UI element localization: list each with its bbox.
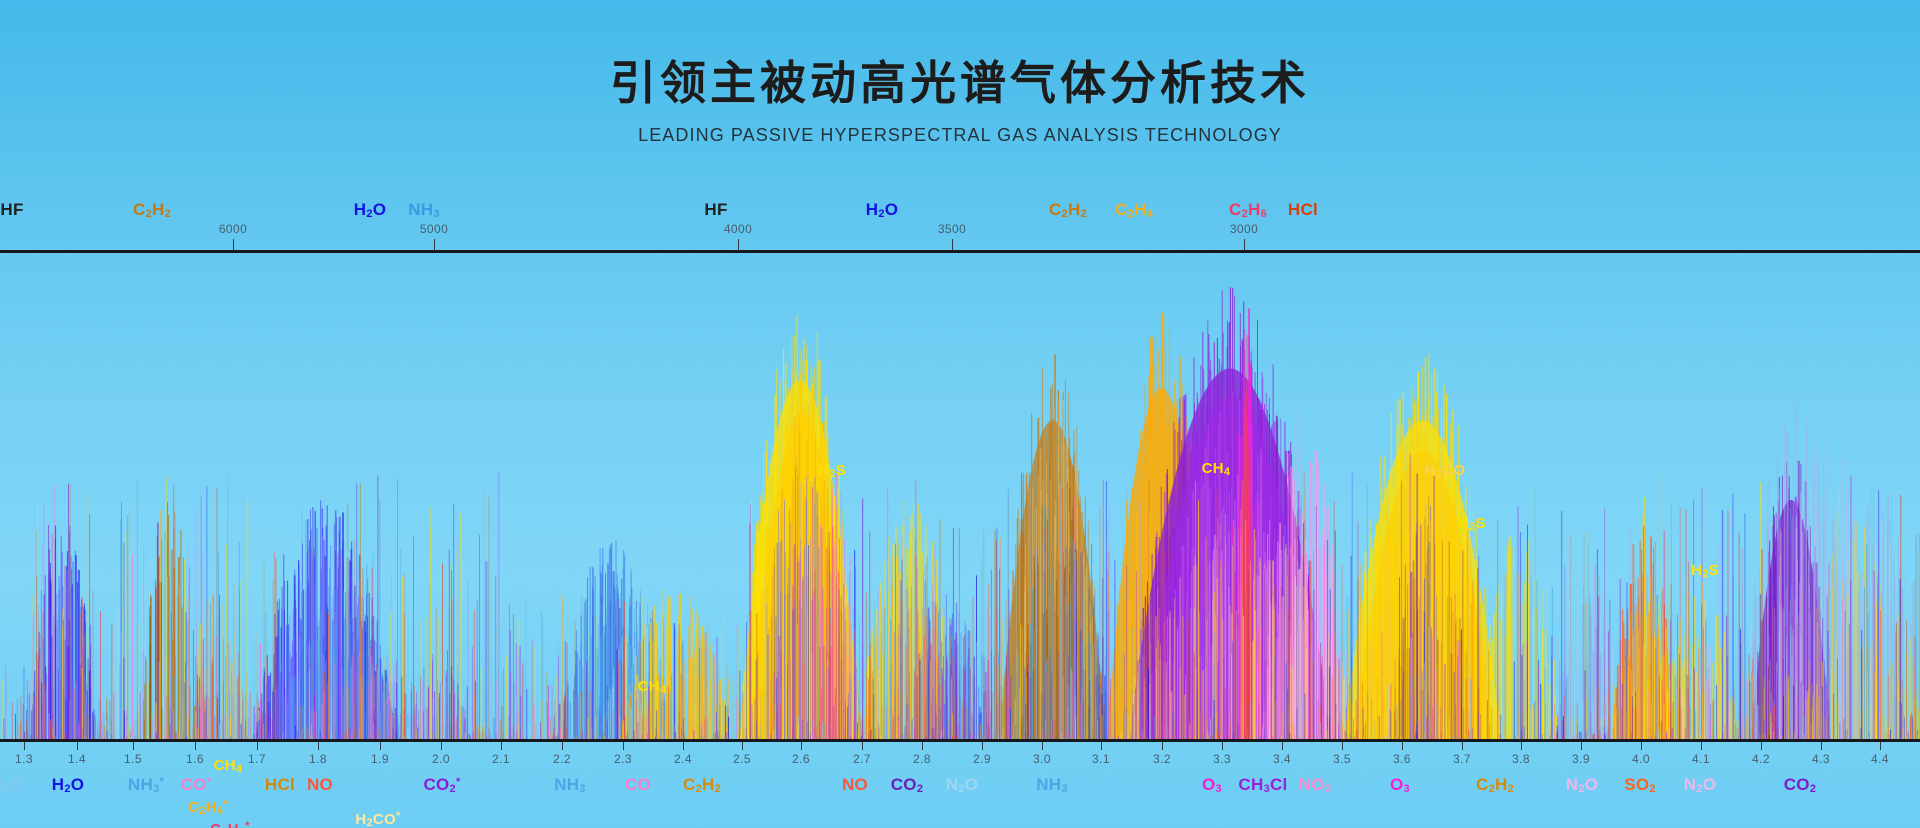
gas-label-hf: HF xyxy=(704,200,727,220)
bottom-tick-mark xyxy=(1402,742,1403,750)
bottom-tick-label: 4.2 xyxy=(1752,752,1770,766)
gas-label-co2: CO2* xyxy=(423,775,460,795)
bottom-tick-label: 2.3 xyxy=(614,752,632,766)
top-tick-label: 4000 xyxy=(724,222,752,236)
bottom-tick-mark xyxy=(1042,742,1043,750)
spectrum-lines xyxy=(0,253,1920,739)
top-tick-label: 3500 xyxy=(938,222,966,236)
bottom-tick-label: 4.0 xyxy=(1632,752,1650,766)
bottom-tick-label: 3.1 xyxy=(1092,752,1110,766)
gas-label-hcl: HCl xyxy=(1288,200,1318,220)
spectrum-plot-area xyxy=(0,253,1920,739)
page-subtitle: LEADING PASSIVE HYPERSPECTRAL GAS ANALYS… xyxy=(0,109,1920,146)
gas-label-ch4: CH4 xyxy=(1202,460,1231,478)
gas-label-nh3: NH3 xyxy=(554,775,586,795)
bottom-tick-mark xyxy=(982,742,983,750)
top-tick-mark xyxy=(1244,239,1245,250)
bottom-tick-label: 3.4 xyxy=(1273,752,1291,766)
bottom-tick-label: 2.8 xyxy=(913,752,931,766)
bottom-tick-mark xyxy=(1641,742,1642,750)
gas-label-c2h4: C2H4 xyxy=(1115,200,1153,220)
bottom-tick-mark xyxy=(195,742,196,750)
bottom-tick-mark xyxy=(77,742,78,750)
bottom-tick-mark xyxy=(922,742,923,750)
gas-label-c2h6: C2H6 xyxy=(1229,200,1267,220)
gas-label-o3: O3 xyxy=(1202,775,1222,795)
gas-label-ch3cl: CH3Cl xyxy=(1238,775,1287,795)
bottom-tick-mark xyxy=(562,742,563,750)
bottom-tick-label: 2.7 xyxy=(853,752,871,766)
bottom-tick-mark xyxy=(1222,742,1223,750)
gas-label-h2o: H2O xyxy=(354,200,387,220)
bottom-tick-mark xyxy=(441,742,442,750)
bottom-tick-mark xyxy=(742,742,743,750)
bottom-tick-label: 1.5 xyxy=(124,752,142,766)
bottom-tick-mark xyxy=(1761,742,1762,750)
bottom-tick-label: 4.3 xyxy=(1812,752,1830,766)
bottom-tick-mark xyxy=(1162,742,1163,750)
bottom-tick-label: 1.6 xyxy=(186,752,204,766)
bottom-tick-label: 1.8 xyxy=(309,752,327,766)
gas-label-h2o: H2O xyxy=(866,200,899,220)
bottom-tick-mark xyxy=(1581,742,1582,750)
bottom-tick-label: 2.4 xyxy=(674,752,692,766)
top-tick-label: 3000 xyxy=(1230,222,1258,236)
bottom-tick-label: 3.6 xyxy=(1393,752,1411,766)
bottom-tick-mark xyxy=(1101,742,1102,750)
bottom-tick-label: 2.2 xyxy=(553,752,571,766)
gas-label-hf: HF xyxy=(0,200,23,220)
gas-label-c2h6: C2H6* xyxy=(210,820,250,828)
gas-label-co2: CO2 xyxy=(891,775,924,795)
bottom-tick-label: 2.9 xyxy=(973,752,991,766)
bottom-tick-label: 1.9 xyxy=(371,752,389,766)
bottom-tick-label: 2.5 xyxy=(733,752,751,766)
bottom-tick-label: 2.1 xyxy=(492,752,510,766)
top-tick-mark xyxy=(952,239,953,250)
gas-label-c2h2: C2H2 xyxy=(683,775,721,795)
bottom-tick-mark xyxy=(257,742,258,750)
gas-label-c2h2: C2H2 xyxy=(1049,200,1087,220)
bottom-tick-label: 2.0 xyxy=(432,752,450,766)
gas-label-n2o: N2O xyxy=(0,775,22,795)
bottom-tick-mark xyxy=(24,742,25,750)
bottom-tick-label: 3.9 xyxy=(1572,752,1590,766)
bottom-tick-label: 2.6 xyxy=(792,752,810,766)
gas-label-co: CO xyxy=(625,775,651,795)
bottom-tick-label: 4.4 xyxy=(1871,752,1889,766)
bottom-tick-mark xyxy=(1462,742,1463,750)
bottom-tick-label: 3.0 xyxy=(1033,752,1051,766)
bottom-tick-mark xyxy=(862,742,863,750)
banner-header: 引领主被动高光谱气体分析技术 LEADING PASSIVE HYPERSPEC… xyxy=(0,0,1920,200)
gas-label-n2o: N2O xyxy=(946,775,979,795)
bottom-tick-mark xyxy=(318,742,319,750)
gas-label-nh3: NH3 xyxy=(408,200,440,220)
gas-label-nh3: NH3* xyxy=(128,775,164,795)
bottom-tick-label: 1.4 xyxy=(68,752,86,766)
gas-label-no: NO xyxy=(842,775,868,795)
bottom-tick-mark xyxy=(133,742,134,750)
bottom-tick-mark xyxy=(1282,742,1283,750)
top-tick-mark xyxy=(738,239,739,250)
gas-label-n2o: N2O xyxy=(1566,775,1599,795)
gas-label-o3: O3 xyxy=(1390,775,1410,795)
bottom-tick-mark xyxy=(380,742,381,750)
bottom-tick-label: 3.3 xyxy=(1213,752,1231,766)
bottom-tick-mark xyxy=(1701,742,1702,750)
gas-label-h2co: H2CO xyxy=(1425,462,1466,480)
spectrum-chart: 60005000400035003000 1.31.41.51.61.71.81… xyxy=(0,200,1920,760)
gas-label-c2h2: C2H2 xyxy=(133,200,171,220)
bottom-tick-mark xyxy=(801,742,802,750)
top-tick-label: 5000 xyxy=(420,222,448,236)
top-tick-mark xyxy=(233,239,234,250)
bottom-tick-mark xyxy=(501,742,502,750)
gas-label-n2o: N2O xyxy=(1684,775,1717,795)
gas-label-h2o: H2O xyxy=(52,775,85,795)
bottom-tick-mark xyxy=(683,742,684,750)
gas-label-nh3: NH3 xyxy=(1036,775,1068,795)
bottom-tick-label: 1.7 xyxy=(248,752,266,766)
bottom-tick-mark xyxy=(623,742,624,750)
gas-label-no: NO xyxy=(307,775,333,795)
gas-label-no2: NO2 xyxy=(1299,775,1332,795)
gas-label-h2co: H2CO* xyxy=(355,810,400,828)
gas-label-co2: CO2 xyxy=(1784,775,1817,795)
bottom-tick-label: 3.7 xyxy=(1453,752,1471,766)
gas-label-ch4: CH4 xyxy=(214,757,243,775)
gas-label-ch4: CH4 xyxy=(638,678,667,696)
bottom-axis-line xyxy=(0,739,1920,742)
gas-label-h2s: H2S xyxy=(1458,515,1486,533)
bottom-tick-label: 3.2 xyxy=(1153,752,1171,766)
bottom-tick-mark xyxy=(1342,742,1343,750)
gas-label-c2h4: C2H4* xyxy=(188,798,228,817)
bottom-tick-mark xyxy=(1821,742,1822,750)
gas-label-c2h2: C2H2 xyxy=(1476,775,1514,795)
gas-label-hcl: HCl xyxy=(265,775,295,795)
gas-label-co: CO* xyxy=(181,775,212,795)
bottom-tick-mark xyxy=(1880,742,1881,750)
bottom-tick-mark xyxy=(1521,742,1522,750)
gas-label-so2: SO2 xyxy=(1624,775,1656,795)
gas-label-h2s: H2S xyxy=(818,462,846,480)
bottom-tick-label: 3.8 xyxy=(1512,752,1530,766)
bottom-tick-label: 3.5 xyxy=(1333,752,1351,766)
top-tick-label: 6000 xyxy=(219,222,247,236)
page-title: 引领主被动高光谱气体分析技术 xyxy=(0,0,1920,109)
bottom-tick-label: 4.1 xyxy=(1692,752,1710,766)
gas-label-h2s: H2S xyxy=(1691,562,1719,580)
bottom-tick-label: 1.3 xyxy=(15,752,33,766)
top-tick-mark xyxy=(434,239,435,250)
